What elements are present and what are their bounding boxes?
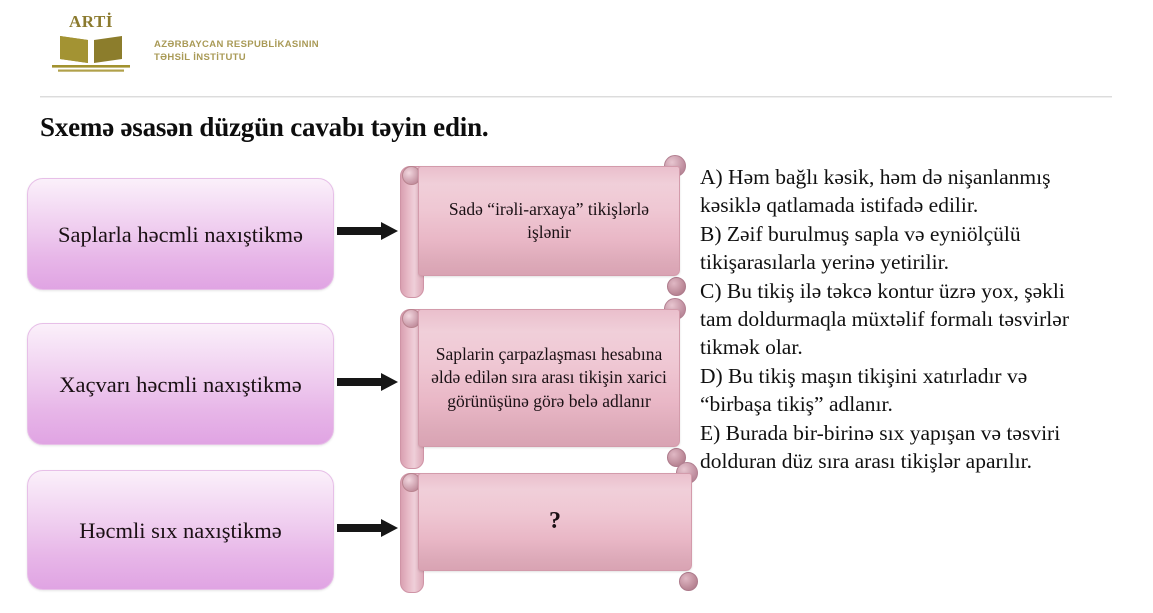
definition-text: ? bbox=[537, 506, 573, 538]
answer-line: dolduran düz sıra arası tikişlər aparılı… bbox=[700, 447, 1148, 475]
definition-body: Sadə “irəli-arxaya” tikişlərlə işlənir bbox=[418, 166, 680, 276]
answer-line: tikmək olar. bbox=[700, 333, 1148, 361]
answer-line: “birbaşa tikiş” adlanır. bbox=[700, 390, 1148, 418]
answer-line: A) Həm bağlı kəsik, həm də nişanlanmış bbox=[700, 163, 1148, 191]
term-box: Saplarla həcmli naxıştikmə bbox=[27, 178, 334, 290]
answer-options-list: A) Həm bağlı kəsik, həm də nişanlanmış k… bbox=[700, 163, 1148, 475]
page-title: Sxemə əsasən düzgün cavabı təyin edin. bbox=[40, 112, 488, 143]
logo-org-line-2: TƏHSİL İNSTİTUTU bbox=[154, 51, 319, 64]
definition-text: Saplarin çarpazlaşması hesabına əldə edi… bbox=[419, 343, 679, 412]
scroll-curl-bottom-right-icon bbox=[667, 277, 686, 296]
definition-scroll: Saplarin çarpazlaşması hesabına əldə edi… bbox=[400, 303, 680, 453]
logo-org-line-1: AZƏRBAYCAN RESPUBLİKASININ bbox=[154, 38, 319, 51]
answer-line: tikişarasılarla yerinə yetirilir. bbox=[700, 248, 1148, 276]
definition-body: ? bbox=[418, 473, 692, 571]
right-arrow-icon bbox=[337, 221, 399, 243]
logo-organization-name: AZƏRBAYCAN RESPUBLİKASININ TƏHSİL İNSTİT… bbox=[154, 38, 319, 64]
term-box: Xaçvarı həcmli naxıştikmə bbox=[27, 323, 334, 445]
answer-line: D) Bu tikiş maşın tikişini xatırladır və bbox=[700, 362, 1148, 390]
term-label: Saplarla həcmli naxıştikmə bbox=[48, 221, 313, 248]
logo-wordmark: ARTİ bbox=[52, 12, 130, 32]
answer-line: B) Zəif burulmuş sapla və eyniölçülü bbox=[700, 220, 1148, 248]
definition-body: Saplarin çarpazlaşması hesabına əldə edi… bbox=[418, 309, 680, 447]
brand-logo: ARTİ AZƏRBAYCAN RESPUBLİKASININ TƏHSİL İ… bbox=[42, 14, 642, 76]
answer-line: tam doldurmaqla müxtəlif formalı təsvirl… bbox=[700, 305, 1148, 333]
right-arrow-icon bbox=[337, 372, 399, 394]
term-label: Həcmli sıx naxıştikmə bbox=[69, 517, 291, 544]
definition-text: Sadə “irəli-arxaya” tikişlərlə işlənir bbox=[419, 198, 679, 244]
answer-line: E) Burada bir-birinə sıx yapışan və təsv… bbox=[700, 419, 1148, 447]
answer-line: kəsiklə qatlamada istifadə edilir. bbox=[700, 191, 1148, 219]
definition-scroll: Sadə “irəli-arxaya” tikişlərlə işlənir bbox=[400, 160, 680, 282]
right-arrow-icon bbox=[337, 518, 399, 540]
term-label: Xaçvarı həcmli naxıştikmə bbox=[49, 371, 311, 398]
scroll-curl-bottom-right-icon bbox=[679, 572, 698, 591]
answer-line: C) Bu tikiş ilə təkcə kontur üzrə yox, ş… bbox=[700, 277, 1148, 305]
header-divider bbox=[40, 96, 1112, 98]
term-box: Həcmli sıx naxıştikmə bbox=[27, 470, 334, 590]
definition-scroll: ? bbox=[400, 467, 692, 577]
